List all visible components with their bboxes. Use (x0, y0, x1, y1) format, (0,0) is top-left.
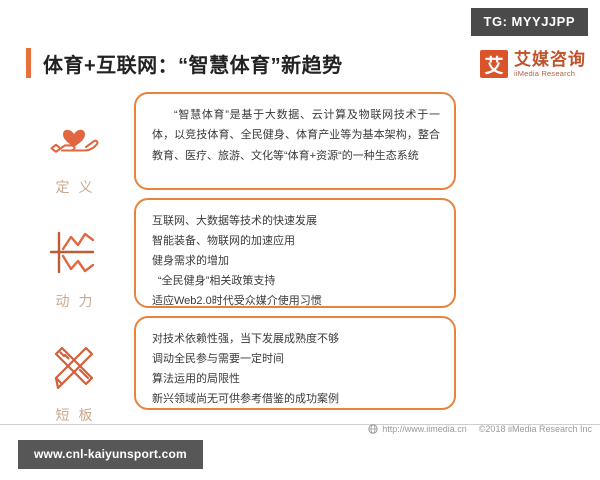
header: 体育+互联网：“智慧体育”新趋势 艾 艾媒咨询 iiMedia Research (0, 48, 600, 90)
logo-name-en: iiMedia Research (514, 70, 586, 78)
section-icon-definition: 定义 (22, 96, 126, 210)
brand-logo: 艾 艾媒咨询 iiMedia Research (480, 50, 586, 78)
section-icon-driver: 动力 (22, 210, 126, 324)
list-item: 智能装备、物联网的加速应用 (152, 231, 440, 251)
trend-chart-icon (44, 223, 104, 283)
content-box-driver: 互联网、大数据等技术的快速发展 智能装备、物联网的加速应用 健身需求的增加 “全… (134, 198, 456, 308)
section-icon-weakness: 短板 (22, 324, 126, 438)
section-label-definition: 定义 (47, 177, 102, 197)
footer-copyright: ©2018 iiMedia Research Inc (479, 424, 592, 434)
globe-icon (368, 424, 378, 434)
content-boxes: “智慧体育”是基于大数据、云计算及物联网技术于一体，以竞技体育、全民健身、体育产… (134, 92, 456, 410)
list-item: “全民健身”相关政策支持 (152, 271, 440, 291)
section-label-driver: 动力 (47, 291, 102, 311)
list-item: 算法运用的局限性 (152, 369, 440, 389)
logo-text: 艾媒咨询 iiMedia Research (514, 51, 586, 78)
list-item: 互联网、大数据等技术的快速发展 (152, 211, 440, 231)
footer-meta: http://www.iimedia.cn ©2018 iiMedia Rese… (368, 424, 592, 434)
section-label-weakness: 短板 (47, 405, 102, 425)
logo-mark-icon: 艾 (480, 50, 508, 78)
list-item: 对技术依赖性强，当下发展成熟度不够 (152, 329, 440, 349)
page-title-text: 体育+互联网：“智慧体育”新趋势 (43, 49, 343, 78)
driver-list: 互联网、大数据等技术的快速发展 智能装备、物联网的加速应用 健身需求的增加 “全… (152, 211, 440, 311)
definition-paragraph: “智慧体育”是基于大数据、云计算及物联网技术于一体，以竞技体育、全民健身、体育产… (152, 105, 440, 166)
page-title: 体育+互联网：“智慧体育”新趋势 (26, 48, 343, 78)
content-box-weakness: 对技术依赖性强，当下发展成熟度不够 调动全民参与需要一定时间 算法运用的局限性 … (134, 316, 456, 410)
weakness-list: 对技术依赖性强，当下发展成熟度不够 调动全民参与需要一定时间 算法运用的局限性 … (152, 329, 440, 409)
icon-column: 定义 动力 (22, 96, 126, 438)
content-box-definition: “智慧体育”是基于大数据、云计算及物联网技术于一体，以竞技体育、全民健身、体育产… (134, 92, 456, 190)
tg-badge: TG: MYYJJPP (471, 8, 588, 36)
watermark: www.cnl-kaiyunsport.com (18, 440, 203, 469)
hand-heart-icon (44, 109, 104, 169)
ruler-pencil-icon (44, 337, 104, 397)
list-item: 适应Web2.0时代受众媒介使用习惯 (152, 291, 440, 311)
footer-url[interactable]: http://www.iimedia.cn (382, 424, 467, 434)
list-item: 健身需求的增加 (152, 251, 440, 271)
list-item: 调动全民参与需要一定时间 (152, 349, 440, 369)
list-item: 新兴领域尚无可供参考借鉴的成功案例 (152, 389, 440, 409)
title-accent-bar (26, 48, 31, 78)
logo-name-cn: 艾媒咨询 (514, 51, 586, 68)
